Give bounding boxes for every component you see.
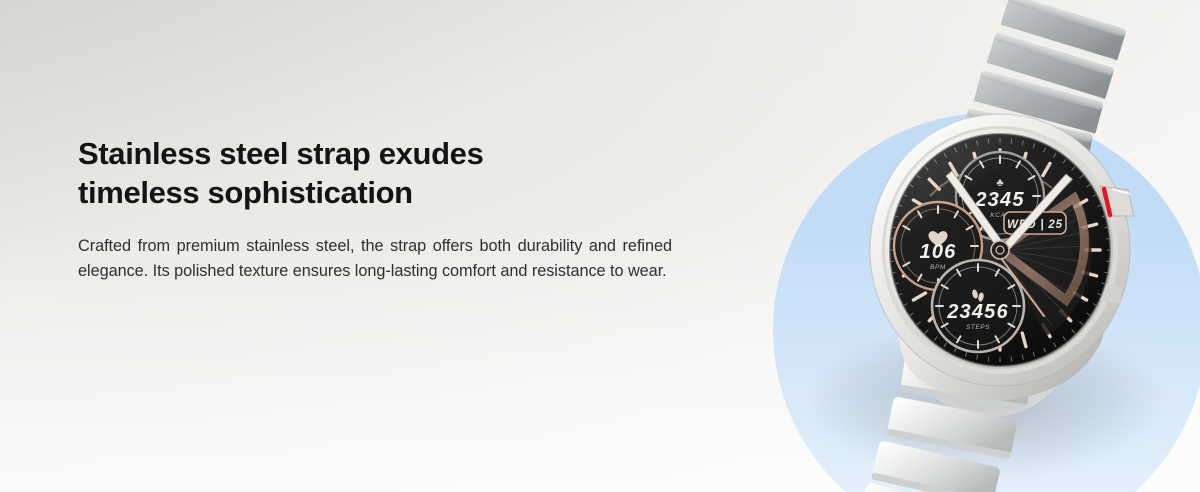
date-window-value: WED | 25 (1007, 219, 1063, 231)
complication-steps: 23456 STEPS (932, 260, 1024, 352)
watch-case-body (870, 114, 1130, 400)
watch-dial: ♣ 2345 KCAL (888, 134, 1112, 366)
watch-hands (946, 171, 1072, 316)
product-feature-banner: Stainless steel strap exudes timeless so… (0, 0, 1200, 492)
blue-accent-ring (700, 150, 1200, 492)
watch-pusher (1100, 282, 1122, 304)
dial-texture-sector (1000, 194, 1092, 336)
dial-hour-markers (900, 150, 1100, 350)
date-window: WED | 25 (1004, 212, 1066, 234)
footsteps-icon (971, 289, 984, 302)
calories-value: 2345 (974, 189, 1024, 211)
dial-minute-track (888, 138, 1112, 362)
watch-band-bottom (860, 352, 1032, 492)
complication-heart-rate: 106 BPM (894, 202, 982, 290)
watch-crown (1100, 186, 1134, 216)
page-title: Stainless steel strap exudes timeless so… (78, 134, 678, 212)
copy-block: Stainless steel strap exudes timeless so… (78, 134, 678, 284)
body-paragraph: Crafted from premium stainless steel, th… (78, 234, 672, 284)
heart-rate-value: 106 (920, 241, 957, 263)
heart-icon (928, 231, 947, 247)
complication-calories: ♣ 2345 KCAL (956, 152, 1044, 240)
calories-unit: KCAL (990, 212, 1009, 219)
steps-unit: STEPS (966, 324, 990, 331)
steps-value: 23456 (946, 301, 1009, 323)
heart-rate-unit: BPM (930, 264, 946, 271)
watch-band-top (954, 0, 1126, 191)
calories-icon: ♣ (996, 177, 1003, 189)
